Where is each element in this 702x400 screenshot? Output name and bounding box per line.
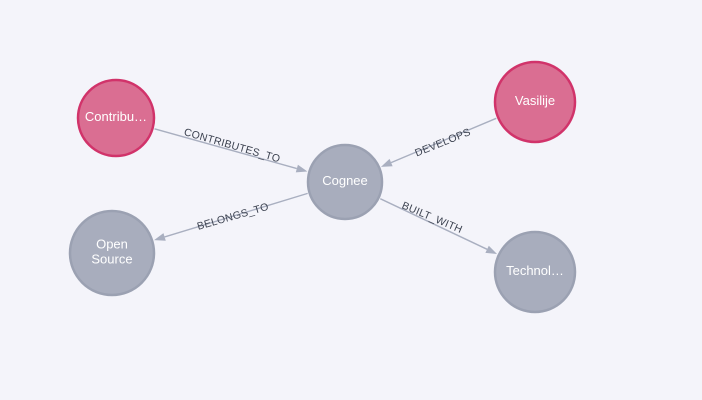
graph-node-cognee[interactable]: Cognee — [308, 145, 382, 219]
edge-label-develops: DEVELOPS — [413, 126, 472, 159]
graph-canvas[interactable]: CONTRIBUTES_TODEVELOPSBELONGS_TOBUILT_WI… — [0, 0, 702, 400]
node-circle-open-source[interactable] — [70, 211, 154, 295]
edge-label-built-with: BUILT_WITH — [400, 200, 464, 236]
node-circle-contributor[interactable] — [78, 80, 154, 156]
node-circle-cognee[interactable] — [308, 145, 382, 219]
node-circle-vasilije[interactable] — [495, 62, 575, 142]
graph-node-open-source[interactable]: OpenSource — [70, 211, 154, 295]
edge-label-contributes-to: CONTRIBUTES_TO — [182, 126, 281, 165]
node-circle-technology[interactable] — [495, 232, 575, 312]
edge-arrowhead-built-with — [485, 246, 497, 254]
edge-arrowhead-develops — [381, 159, 393, 167]
edge-label-belongs-to: BELONGS_TO — [196, 201, 270, 233]
nodes-layer: Contribu…VasilijeCogneeOpenSourceTechnol… — [70, 62, 575, 312]
edge-arrowhead-belongs-to — [154, 233, 166, 241]
graph-node-technology[interactable]: Technol… — [495, 232, 575, 312]
edge-arrowhead-contributes-to — [296, 165, 308, 173]
graph-visualization[interactable]: CONTRIBUTES_TODEVELOPSBELONGS_TOBUILT_WI… — [0, 0, 702, 400]
graph-node-vasilije[interactable]: Vasilije — [495, 62, 575, 142]
graph-node-contributor[interactable]: Contribu… — [78, 80, 154, 156]
